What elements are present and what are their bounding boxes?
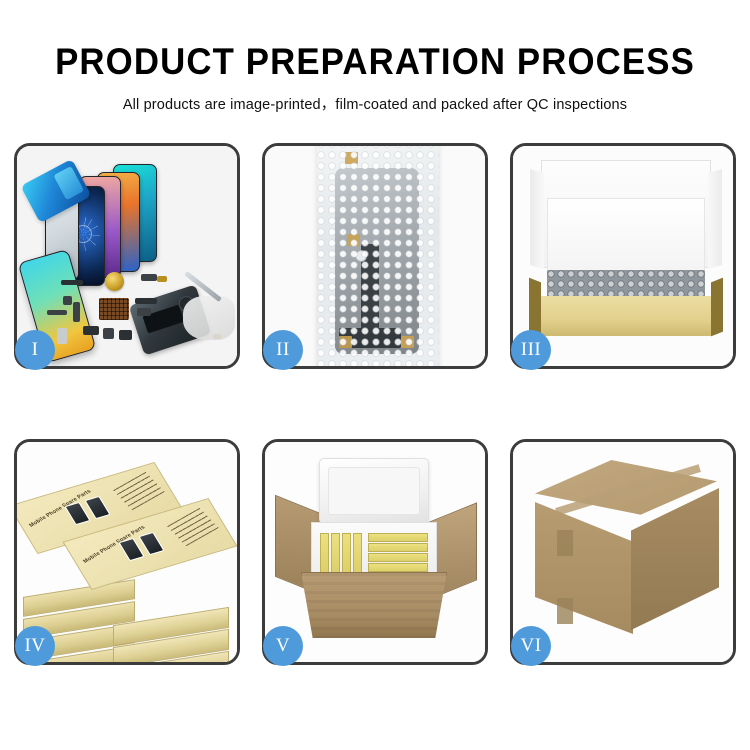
small-part xyxy=(73,302,80,322)
chip-array-part xyxy=(99,298,129,320)
step-badge-2: II xyxy=(263,330,303,370)
carton-with-styrofoam-illustration xyxy=(265,442,485,662)
carton-left-face xyxy=(535,502,633,634)
styrofoam-box xyxy=(311,522,437,580)
phone-screens-and-parts-illustration xyxy=(17,146,237,366)
bubble-texture xyxy=(317,146,439,366)
gold-coil-part xyxy=(105,272,124,291)
sealed-shipping-carton-illustration xyxy=(513,442,733,662)
small-part xyxy=(61,280,83,285)
styrofoam-lid xyxy=(319,458,429,524)
step-6-image xyxy=(513,442,733,662)
carton-seam xyxy=(557,598,573,624)
step-2-image xyxy=(265,146,485,366)
small-part xyxy=(63,296,72,305)
stacked-retail-boxes-illustration: Mobile Phone Spare Parts Mobile Phone Sp… xyxy=(17,442,237,662)
foam-sheet xyxy=(547,198,705,272)
small-part xyxy=(137,308,151,316)
yellow-box xyxy=(320,533,329,573)
small-part xyxy=(157,276,167,282)
technician-hand xyxy=(183,296,235,340)
step-badge-6: VI xyxy=(511,626,551,666)
bubble-wrapped-screen-illustration xyxy=(265,146,485,366)
process-step-panel-3: III xyxy=(510,143,736,369)
small-part xyxy=(103,328,114,339)
small-part xyxy=(47,310,67,315)
process-step-panel-6: VI xyxy=(510,439,736,665)
carton-seam xyxy=(557,530,573,556)
step-4-image: Mobile Phone Spare Parts Mobile Phone Sp… xyxy=(17,442,237,662)
step-badge-3: III xyxy=(511,330,551,370)
kraft-box-front xyxy=(539,296,713,336)
process-step-panel-4: Mobile Phone Spare Parts Mobile Phone Sp… xyxy=(14,439,240,665)
yellow-box xyxy=(342,533,351,573)
yellow-box xyxy=(353,533,362,573)
product-preparation-process-page: PRODUCT PREPARATION PROCESS All products… xyxy=(0,0,750,750)
step-badge-5: V xyxy=(263,626,303,666)
yellow-box xyxy=(368,533,428,542)
small-part xyxy=(83,326,99,335)
step-3-image xyxy=(513,146,733,366)
step-1-image xyxy=(17,146,237,366)
step-5-image xyxy=(265,442,485,662)
yellow-box xyxy=(368,543,428,552)
process-step-panel-1: I xyxy=(14,143,240,369)
small-part xyxy=(135,298,157,304)
small-part xyxy=(57,328,67,344)
step-badge-1: I xyxy=(15,330,55,370)
process-step-panel-5: V xyxy=(262,439,488,665)
yellow-box xyxy=(368,563,428,572)
carton-body xyxy=(301,572,447,638)
bubble-wrap-bag xyxy=(317,146,439,366)
small-part xyxy=(119,330,132,340)
page-subtitle: All products are image-printed，film-coat… xyxy=(0,93,750,114)
small-part xyxy=(141,274,157,281)
lid-feature-list xyxy=(167,508,219,546)
lid-feature-list xyxy=(113,472,165,510)
step-badge-4: IV xyxy=(15,626,55,666)
yellow-box xyxy=(368,553,428,562)
yellow-box xyxy=(331,533,340,573)
page-title: PRODUCT PREPARATION PROCESS xyxy=(23,42,728,82)
open-kraft-box-illustration xyxy=(513,146,733,366)
process-steps-grid: I II xyxy=(14,143,736,665)
process-step-panel-2: II xyxy=(262,143,488,369)
page-header: PRODUCT PREPARATION PROCESS All products… xyxy=(0,42,750,114)
